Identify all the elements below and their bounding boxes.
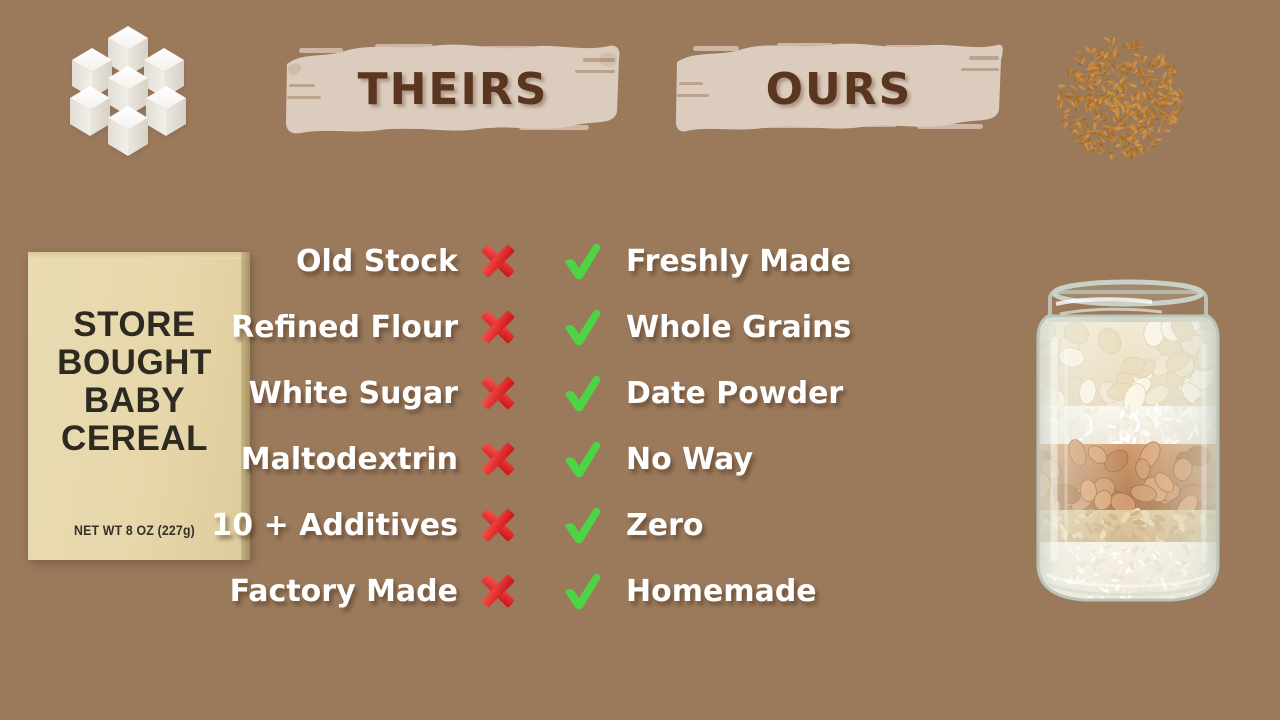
cross-icon xyxy=(476,503,520,547)
theirs-cell: Factory Made xyxy=(0,569,520,613)
check-icon xyxy=(560,569,604,613)
ours-cell: Whole Grains xyxy=(520,305,1080,349)
cross-icon xyxy=(476,437,520,481)
ours-label: Freshly Made xyxy=(626,244,851,279)
theirs-cell: Refined Flour xyxy=(0,305,520,349)
banner-theirs: THEIRS xyxy=(283,36,623,142)
cross-icon xyxy=(476,371,520,415)
check-icon xyxy=(560,503,604,547)
ours-label: No Way xyxy=(626,442,753,477)
ours-cell: Homemade xyxy=(520,569,1080,613)
theirs-cell: White Sugar xyxy=(0,371,520,415)
check-icon xyxy=(560,305,604,349)
infographic-canvas: THEIRS OURS STORE xyxy=(0,0,1280,720)
check-icon xyxy=(560,437,604,481)
ours-cell: Zero xyxy=(520,503,1080,547)
grain-pile-icon xyxy=(1033,22,1205,174)
theirs-label: 10 + Additives xyxy=(211,508,458,543)
cross-icon xyxy=(476,569,520,613)
sugar-cubes-icon xyxy=(50,22,210,167)
ours-label: Date Powder xyxy=(626,376,843,411)
theirs-label: Factory Made xyxy=(230,574,458,609)
layered-ingredient-jar xyxy=(1012,268,1244,608)
banner-ours: OURS xyxy=(673,36,1005,142)
theirs-cell: 10 + Additives xyxy=(0,503,520,547)
theirs-label: White Sugar xyxy=(249,376,458,411)
ours-label: Whole Grains xyxy=(626,310,851,345)
ours-cell: Date Powder xyxy=(520,371,1080,415)
check-icon xyxy=(560,371,604,415)
cross-icon xyxy=(476,305,520,349)
theirs-label: Refined Flour xyxy=(231,310,458,345)
theirs-cell: Maltodextrin xyxy=(0,437,520,481)
ours-label: Zero xyxy=(626,508,704,543)
theirs-label: Old Stock xyxy=(296,244,458,279)
ours-cell: No Way xyxy=(520,437,1080,481)
theirs-cell: Old Stock xyxy=(0,239,520,283)
ours-label: Homemade xyxy=(626,574,817,609)
cross-icon xyxy=(476,239,520,283)
check-icon xyxy=(560,239,604,283)
banner-theirs-label: THEIRS xyxy=(283,36,623,142)
theirs-label: Maltodextrin xyxy=(241,442,458,477)
ours-cell: Freshly Made xyxy=(520,239,1080,283)
banner-ours-label: OURS xyxy=(673,36,1005,142)
